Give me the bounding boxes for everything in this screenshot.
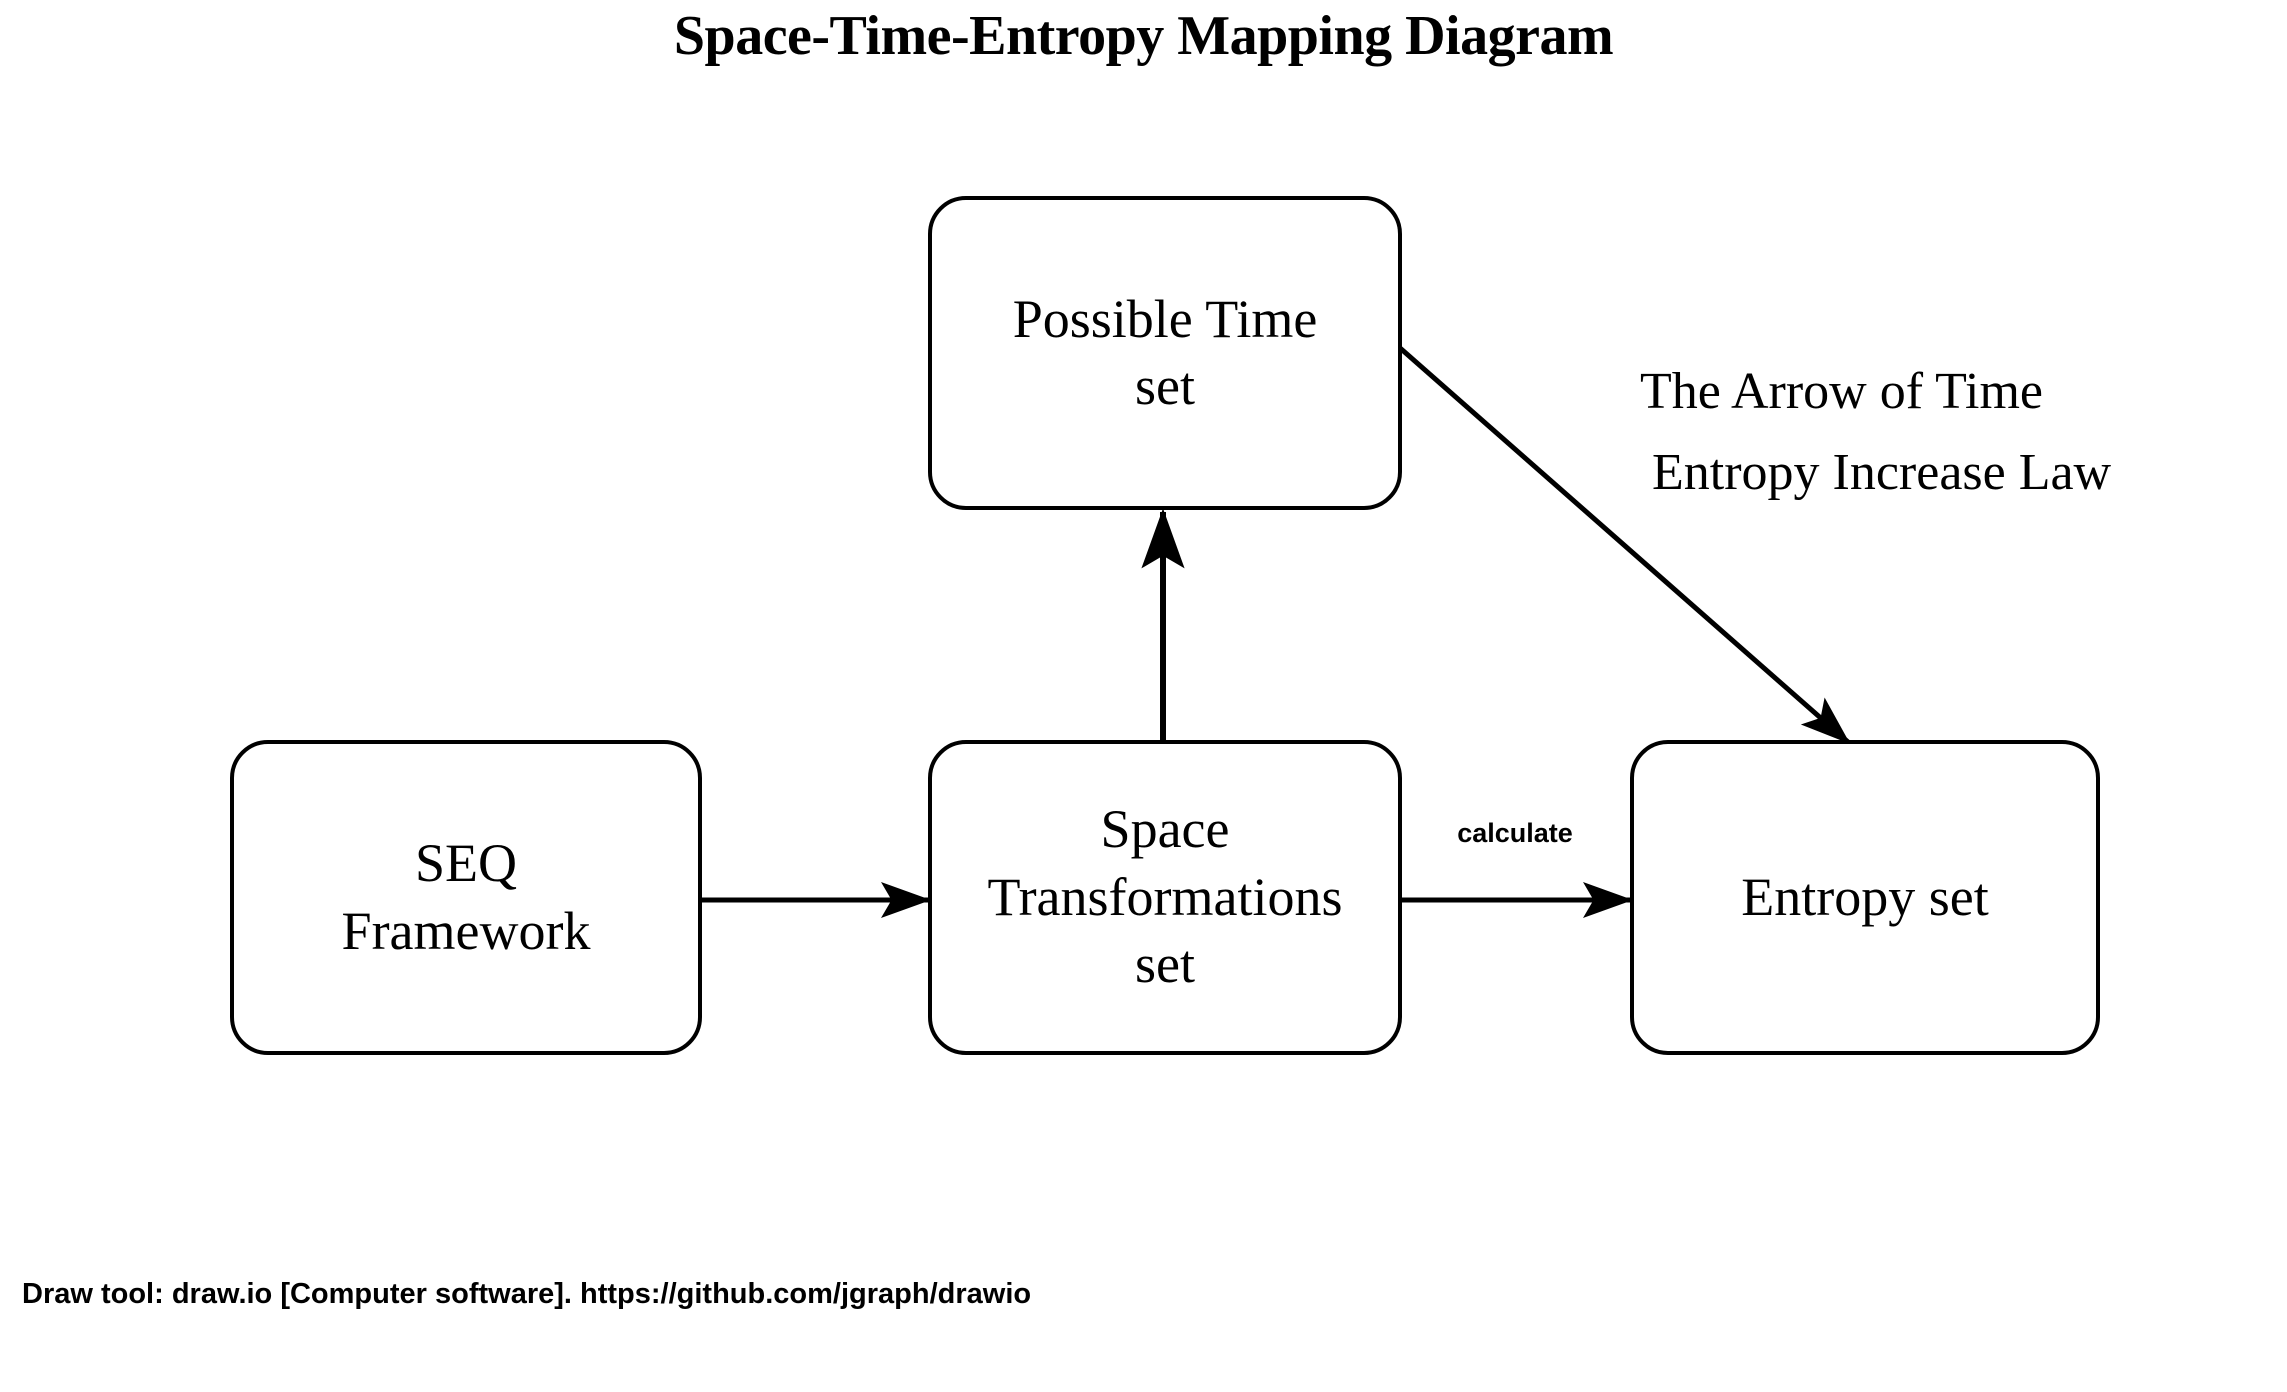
node-label-possible-time-set: Possible Time set [1013,286,1318,421]
node-entropy-set[interactable]: Entropy set [1630,740,2100,1055]
node-label-entropy-set: Entropy set [1741,864,1988,932]
diagram-canvas: Space-Time-Entropy Mapping Diagram Possi… [0,0,2287,1392]
annotation-line-2: Entropy Increase Law [1652,433,2280,514]
node-space-transformations-set[interactable]: Space Transformations set [928,740,1402,1055]
annotation-line-1: The Arrow of Time [1640,352,2280,433]
footer-credit: Draw tool: draw.io [Computer software]. … [22,1278,1031,1311]
page-title: Space-Time-Entropy Mapping Diagram [0,4,2287,68]
node-seq-framework[interactable]: SEQ Framework [230,740,702,1055]
node-possible-time-set[interactable]: Possible Time set [928,196,1402,510]
edge-label-calculate: calculate [1400,818,1630,849]
annotation-arrow-of-time: The Arrow of Time Entropy Increase Law [1640,352,2280,513]
node-label-seq-framework: SEQ Framework [342,830,591,965]
node-label-space-transformations-set: Space Transformations set [932,796,1398,999]
